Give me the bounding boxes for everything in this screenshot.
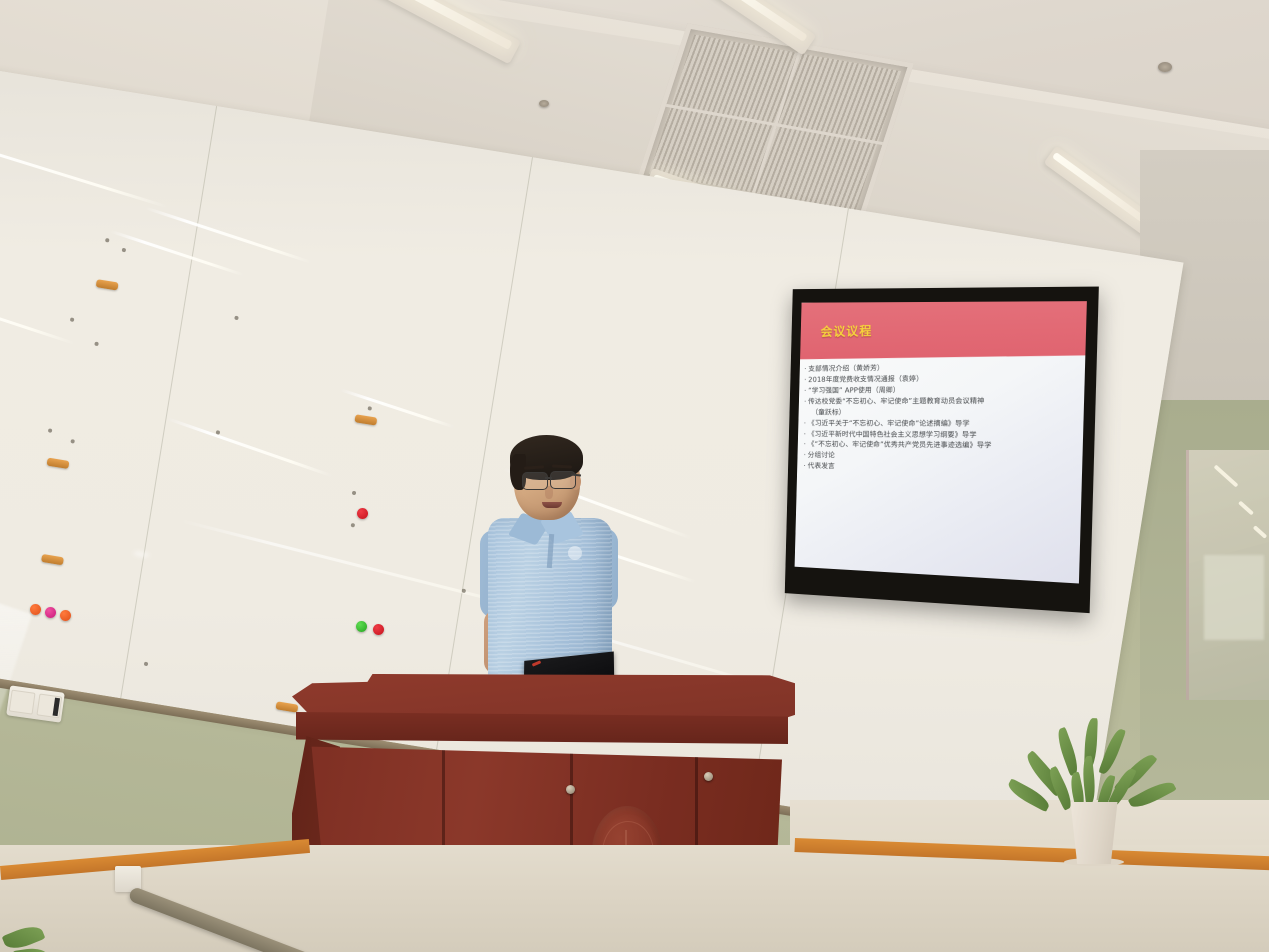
magnet-red[interactable]: [373, 624, 384, 635]
plant-pot: [1066, 802, 1122, 864]
magnet-pink[interactable]: [45, 607, 56, 618]
slide-bullet: ·传达校党委“不忘初心、牢记使命”主题教育动员会议精神: [804, 395, 1080, 407]
whiteboard-light-reflection: [133, 551, 150, 558]
projection-screen-frame: 会议议程 ·支部情况介绍（黄娇芳） ·2018年度党费收支情况通报（袁婷） ·“…: [785, 287, 1099, 614]
slide-bullet-list: ·支部情况介绍（黄娇芳） ·2018年度党费收支情况通报（袁婷） ·“学习强国”…: [795, 356, 1087, 584]
slide-bullet: ·代表发言: [804, 461, 1080, 475]
lectern-knob[interactable]: [704, 772, 713, 781]
bullet-text: 《习近平新时代中国特色社会主义思想学习纲要》导学: [808, 429, 977, 440]
whiteboard-magnet-clip[interactable]: [354, 414, 377, 425]
magnet-orange[interactable]: [30, 604, 41, 615]
bullet-dot: ·: [804, 461, 806, 471]
bullet-dot: ·: [804, 450, 806, 460]
whiteboard-light-reflection: [0, 280, 76, 345]
shirt-chest-logo: [568, 546, 582, 560]
slide: 会议议程 ·支部情况介绍（黄娇芳） ·2018年度党费收支情况通报（袁婷） ·“…: [795, 301, 1087, 583]
bullet-dot: ·: [804, 375, 806, 385]
whiteboard-speck: [70, 317, 75, 322]
whiteboard-speck: [234, 316, 239, 321]
whiteboard-speck: [144, 662, 149, 667]
plant-leaf: [1054, 727, 1082, 776]
whiteboard-speck: [122, 248, 127, 253]
whiteboard-light-reflection: [166, 417, 332, 477]
glass-light-reflection: [1214, 464, 1239, 487]
bullet-dot: ·: [804, 440, 806, 450]
whiteboard-magnet-clip[interactable]: [96, 279, 119, 290]
potted-plant: [1036, 716, 1152, 866]
bullet-dot: ·: [804, 364, 806, 374]
slide-title: 会议议程: [821, 320, 873, 340]
whiteboard-speck: [48, 428, 53, 433]
slide-bullet: ·“学习强国” APP使用（周卿）: [804, 384, 1080, 396]
whiteboard-light-reflection: [145, 206, 312, 264]
bullet-text: “学习强国” APP使用（周卿）: [808, 385, 900, 396]
magnet-green[interactable]: [356, 621, 367, 632]
slide-bullet-continuation: （童跃标）: [804, 407, 1080, 418]
switch-rocker-right[interactable]: [36, 693, 62, 718]
whiteboard-magnet-clip[interactable]: [41, 554, 64, 565]
bullet-text: 代表发言: [808, 461, 835, 472]
glass-screen-reflection: [1204, 555, 1264, 640]
slide-title-band: 会议议程: [796, 301, 1087, 360]
whiteboard-speck: [105, 238, 110, 243]
eyeglasses-bridge: [545, 477, 552, 479]
whiteboard-light-reflection: [0, 129, 169, 209]
plant-leaf: [1098, 727, 1126, 776]
bullet-dot: ·: [804, 386, 806, 396]
glass-light-reflection: [1253, 525, 1268, 539]
lectern-top-edge: [296, 712, 788, 744]
whiteboard-light-reflection: [110, 230, 244, 277]
mouth: [542, 502, 562, 508]
lectern-knob[interactable]: [566, 785, 575, 794]
bullet-text: 传达校党委“不忘初心、牢记使命”主题教育动员会议精神: [808, 396, 984, 407]
presenter: [470, 438, 630, 688]
bullet-text: （童跃标）: [811, 407, 845, 417]
bullet-dot: ·: [804, 429, 806, 439]
bullet-text: 《“不忘初心、牢记使命”优秀共产党员先进事迹选编》导学: [808, 440, 992, 452]
projection-screen: 会议议程 ·支部情况介绍（黄娇芳） ·2018年度党费收支情况通报（袁婷） ·“…: [795, 301, 1087, 583]
smoke-detector: [539, 100, 549, 107]
whiteboard-speck: [216, 430, 221, 435]
whiteboard-magnet-clip[interactable]: [46, 458, 69, 469]
bullet-text: 分组讨论: [808, 450, 835, 461]
bullet-text: 《习近平关于“不忘初心、牢记使命”论述摘编》导学: [808, 418, 970, 429]
magnet-orange[interactable]: [60, 610, 71, 621]
whiteboard-speck: [70, 439, 75, 444]
bullet-dot: ·: [804, 418, 806, 428]
bullet-dot: ·: [804, 397, 806, 407]
smoke-detector: [1158, 62, 1172, 72]
whiteboard-speck: [94, 342, 99, 347]
whiteboard-speck: [367, 406, 372, 411]
magnet-red[interactable]: [357, 508, 368, 519]
whiteboard-speck: [351, 523, 356, 528]
switch-rocker-left[interactable]: [9, 690, 35, 715]
meeting-room-photo: 会议议程 ·支部情况介绍（黄娇芳） ·2018年度党费收支情况通报（袁婷） ·“…: [0, 0, 1269, 952]
bullet-text: 2018年度党费收支情况通报（袁婷）: [808, 374, 923, 385]
bullet-text: 支部情况介绍（黄娇芳）: [808, 363, 884, 374]
eyeglasses-lens-left: [522, 472, 548, 490]
slide-bullet: ·《习近平关于“不忘初心、牢记使命”论述摘编》导学: [804, 418, 1080, 429]
glass-light-reflection: [1238, 500, 1254, 515]
whiteboard-speck: [352, 491, 357, 496]
